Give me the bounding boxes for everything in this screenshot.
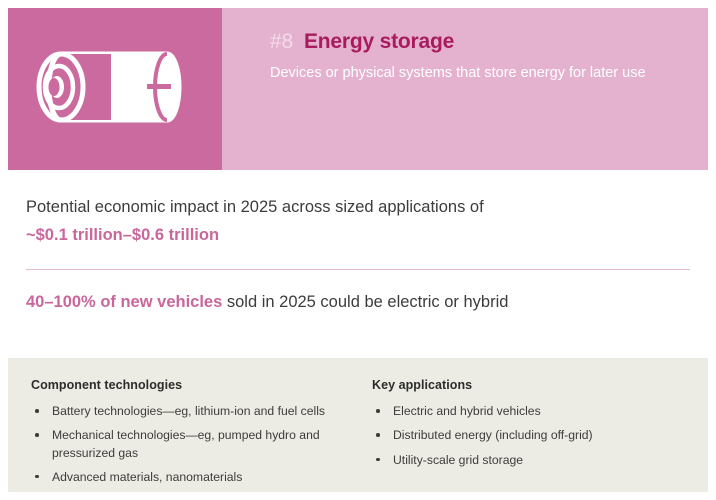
battery-icon [35,48,195,131]
list-item: Electric and hybrid vehicles [372,403,690,420]
impact-value: ~$0.1 trillion–$0.6 trillion [26,224,690,248]
list-item: Distributed energy (including off-grid) [372,427,690,444]
impact-description: Potential economic impact in 2025 across… [26,196,690,220]
list-item: Utility-scale grid storage [372,452,690,469]
header-text-block: #8 Energy storage Devices or physical sy… [222,8,708,170]
stat-line: 40–100% of new vehicles sold in 2025 cou… [26,291,690,315]
details-panel: Component technologies Battery technolog… [8,358,708,492]
list-item: Advanced materials, nanomaterials [31,469,342,486]
column-component-technologies: Component technologies Battery technolog… [8,378,360,492]
bullet-list: Battery technologies—eg, lithium-ion and… [31,403,342,486]
stat-rest: sold in 2025 could be electric or hybrid [222,293,508,311]
column-key-applications: Key applications Electric and hybrid veh… [360,378,708,492]
rank-number: #8 [270,30,293,54]
list-item: Mechanical technologies—eg, pumped hydro… [31,427,342,462]
subtitle: Devices or physical systems that store e… [270,63,682,84]
icon-panel [8,8,222,170]
bullet-list: Electric and hybrid vehicles Distributed… [372,403,690,469]
divider [26,269,690,271]
list-item: Battery technologies—eg, lithium-ion and… [31,403,342,420]
card-header: #8 Energy storage Devices or physical sy… [8,8,708,170]
infographic-card: #8 Energy storage Devices or physical sy… [0,0,716,500]
column-heading: Key applications [372,378,690,392]
page-title: Energy storage [304,30,454,54]
stat-highlight: 40–100% of new vehicles [26,293,222,311]
column-heading: Component technologies [31,378,342,392]
title-row: #8 Energy storage [270,30,682,54]
impact-section: Potential economic impact in 2025 across… [0,170,716,350]
